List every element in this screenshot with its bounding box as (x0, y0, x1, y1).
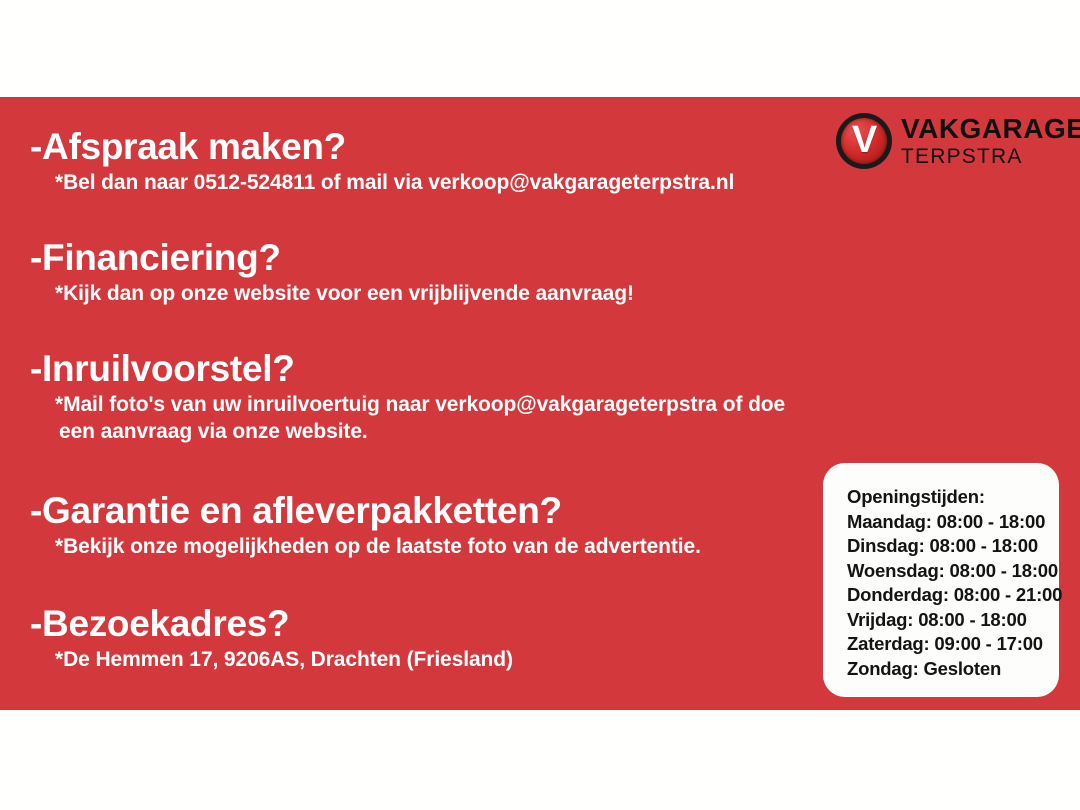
section-financiering: -Financiering? *Kijk dan op onze website… (30, 238, 634, 307)
vakgarage-logo: V VAKGARAGE TERPSTRA (836, 110, 1074, 172)
vakgarage-v-emblem-icon: V (836, 113, 892, 169)
section-detail-line: *De Hemmen 17, 9206AS, Drachten (Friesla… (55, 646, 513, 673)
section-detail-line: *Mail foto's van uw inruilvoertuig naar … (55, 391, 785, 418)
section-detail-line: *Bekijk onze mogelijkheden op de laatste… (55, 533, 701, 560)
section-inruilvoorstel: -Inruilvoorstel? *Mail foto's van uw inr… (30, 349, 785, 445)
emblem-letter: V (836, 113, 892, 169)
section-heading: -Financiering? (30, 238, 634, 278)
section-detail-line: een aanvraag via onze website. (59, 418, 785, 445)
advertisement-banner: V VAKGARAGE TERPSTRA -Afspraak maken? *B… (0, 0, 1080, 810)
opening-hours-card: Openingstijden: Maandag: 08:00 - 18:00 D… (823, 463, 1059, 697)
opening-hours-row: Woensdag: 08:00 - 18:00 (847, 559, 1059, 584)
opening-hours-row: Vrijdag: 08:00 - 18:00 (847, 608, 1059, 633)
section-detail-line: *Kijk dan op onze website voor een vrijb… (55, 280, 634, 307)
opening-hours-row: Zaterdag: 09:00 - 17:00 (847, 632, 1059, 657)
section-heading: -Bezoekadres? (30, 604, 513, 644)
opening-hours-row: Zondag: Gesloten (847, 657, 1059, 682)
opening-hours-row: Dinsdag: 08:00 - 18:00 (847, 534, 1059, 559)
section-garantie-en-afleverpakketten: -Garantie en afleverpakketten? *Bekijk o… (30, 491, 701, 560)
logo-wordmark-group: VAKGARAGE TERPSTRA (901, 115, 1080, 167)
section-bezoekadres: -Bezoekadres? *De Hemmen 17, 9206AS, Dra… (30, 604, 513, 673)
opening-hours-row: Maandag: 08:00 - 18:00 (847, 510, 1059, 535)
opening-hours-title: Openingstijden: (847, 485, 1059, 510)
logo-wordmark: VAKGARAGE (901, 115, 1080, 143)
section-heading: -Afspraak maken? (30, 127, 734, 167)
logo-sub-wordmark: TERPSTRA (901, 146, 1080, 167)
section-heading: -Garantie en afleverpakketten? (30, 491, 701, 531)
opening-hours-row: Donderdag: 08:00 - 21:00 (847, 583, 1059, 608)
section-afspraak-maken: -Afspraak maken? *Bel dan naar 0512-5248… (30, 127, 734, 196)
section-detail-line: *Bel dan naar 0512-524811 of mail via ve… (55, 169, 734, 196)
section-heading: -Inruilvoorstel? (30, 349, 785, 389)
